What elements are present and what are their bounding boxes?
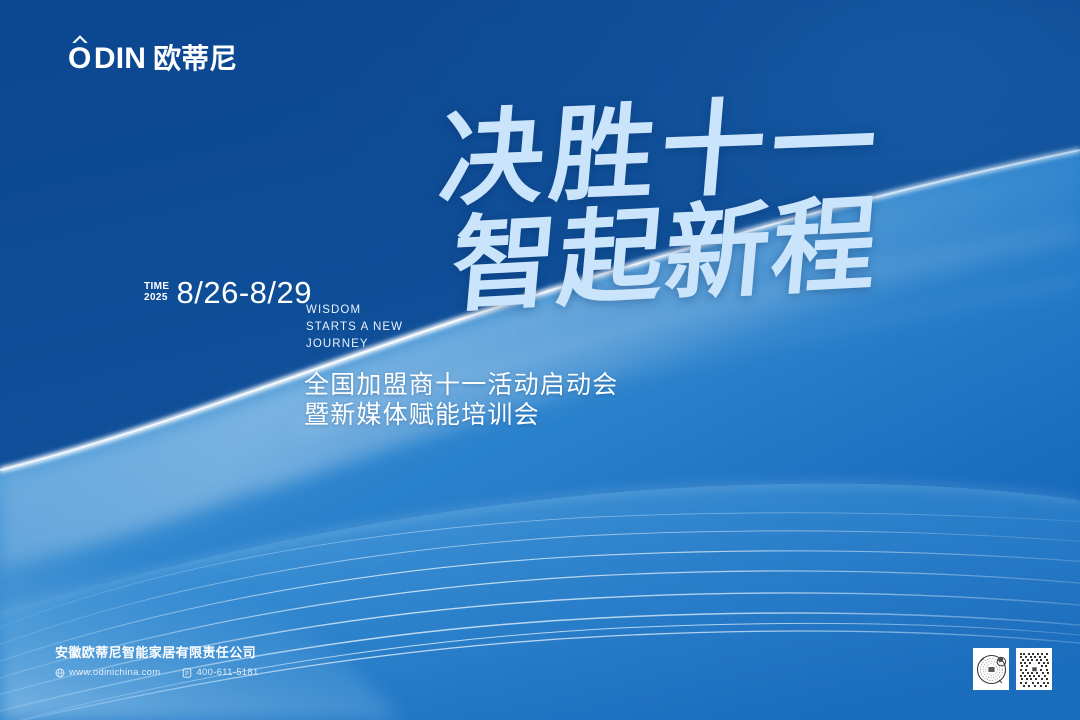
- qr-code-group: [973, 648, 1052, 690]
- phone-contact[interactable]: 400-611-5181: [182, 667, 258, 679]
- subtitle-line-1: 全国加盟商十一活动启动会: [304, 370, 618, 400]
- date-label: TIME 2025: [144, 281, 170, 306]
- footer-block: 安徽欧蒂尼智能家居有限责任公司 www.odinichina.com: [55, 645, 259, 679]
- logo-latin-text: DIN: [94, 44, 146, 74]
- event-poster: O DIN 欧蒂尼 决胜十一 智起新程 TIME 2025 8/26-8/29 …: [0, 0, 1080, 720]
- wechat-official-qr[interactable]: [973, 648, 1009, 690]
- globe-icon: [55, 668, 65, 678]
- date-label-year: 2025: [144, 292, 170, 303]
- wechat-mini-program-qr[interactable]: [1016, 648, 1052, 690]
- logo-o-glyph: O: [68, 42, 92, 75]
- circumflex-accent-icon: [72, 35, 87, 43]
- subtitle-line-2: 暨新媒体赋能培训会: [304, 400, 618, 430]
- phone-text: 400-611-5181: [196, 667, 258, 679]
- event-subtitle: 全国加盟商十一活动启动会 暨新媒体赋能培训会: [304, 370, 618, 430]
- english-tagline: WISDOM STARTS A NEW JOURNEY: [306, 302, 403, 353]
- date-range-text: 8/26-8/29: [177, 277, 313, 309]
- logo-o-letter: O: [68, 44, 92, 74]
- company-name: 安徽欧蒂尼智能家居有限责任公司: [55, 645, 259, 662]
- tagline-line-3: JOURNEY: [306, 336, 403, 353]
- tagline-line-2: STARTS A NEW: [306, 319, 403, 336]
- contact-row: www.odinichina.com 400-611-5181: [55, 667, 259, 679]
- event-date-block: TIME 2025 8/26-8/29: [144, 277, 312, 309]
- website-text: www.odinichina.com: [69, 667, 160, 679]
- website-contact[interactable]: www.odinichina.com: [55, 667, 160, 679]
- brand-logo[interactable]: O DIN 欧蒂尼: [68, 44, 237, 74]
- tagline-line-1: WISDOM: [306, 302, 403, 319]
- phone-icon: [182, 668, 192, 678]
- date-label-time: TIME: [144, 281, 170, 292]
- logo-chinese-text: 欧蒂尼: [153, 44, 237, 74]
- background-artwork: [0, 0, 1080, 720]
